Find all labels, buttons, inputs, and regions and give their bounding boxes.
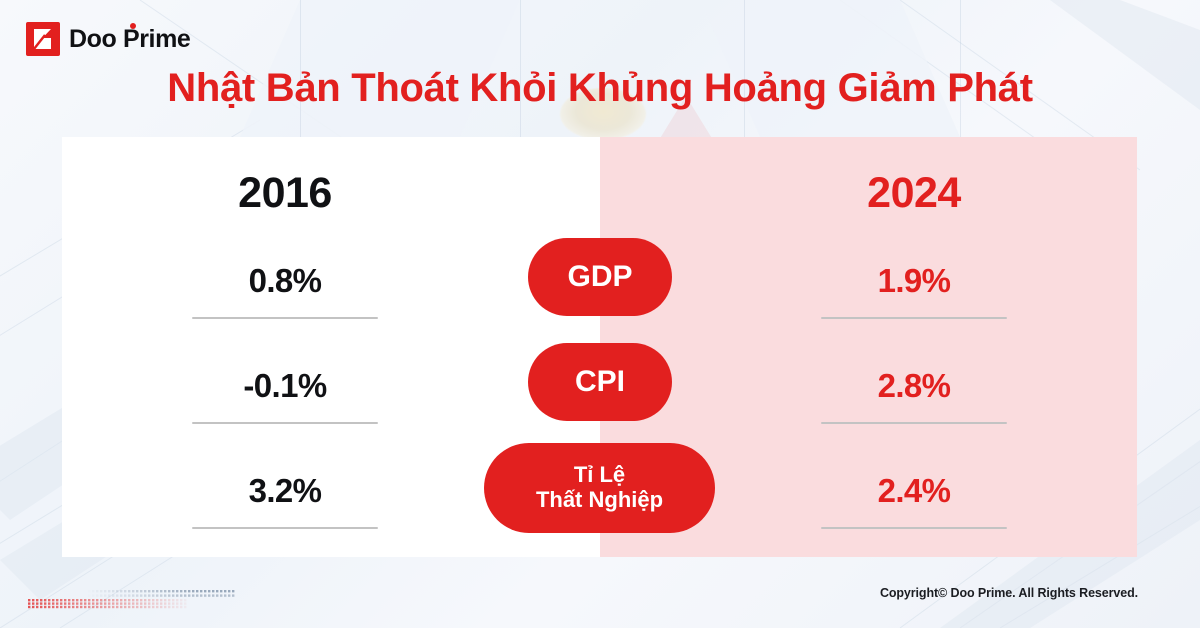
row-divider: [821, 317, 1007, 319]
metric-badge-cpi[interactable]: CPI: [528, 343, 672, 421]
header: Doo Prime Nhật Bản Thoát Khỏi Khủng Hoản…: [0, 0, 1200, 137]
value-2024-unemployment: 2.4%: [878, 455, 951, 527]
value-2016-gdp: 0.8%: [249, 245, 322, 317]
row-divider: [192, 422, 378, 424]
row-divider: [192, 317, 378, 319]
doo-prime-glyph-icon: [34, 29, 52, 49]
value-2024-gdp: 1.9%: [878, 245, 951, 317]
table-row: 2.4%: [691, 455, 1137, 560]
row-divider: [821, 422, 1007, 424]
doo-prime-mark-icon: [26, 22, 60, 56]
table-row: 0.8%: [62, 245, 508, 350]
metric-badge-unemployment-label-line1: Tỉ Lệ: [574, 463, 625, 488]
value-2024-cpi: 2.8%: [878, 350, 951, 422]
metric-badge-cpi-label: CPI: [575, 365, 625, 399]
table-row: 2.8%: [691, 350, 1137, 455]
metric-badge-unemployment[interactable]: Tỉ Lệ Thất Nghiệp: [484, 443, 715, 533]
table-row: -0.1%: [62, 350, 508, 455]
row-divider: [821, 527, 1007, 529]
page-title: Nhật Bản Thoát Khỏi Khủng Hoảng Giảm Phá…: [0, 66, 1200, 111]
value-2016-unemployment: 3.2%: [249, 455, 322, 527]
brand-name: Doo Prime: [69, 25, 190, 54]
value-2016-cpi: -0.1%: [243, 350, 326, 422]
year-header-2016: 2016: [62, 169, 508, 218]
dot-matrix-icon: [28, 586, 240, 610]
metric-badge-gdp[interactable]: GDP: [528, 238, 672, 316]
metric-badge-unemployment-label-line2: Thất Nghiệp: [536, 488, 663, 513]
column-2016: 2016 0.8% -0.1% 3.2%: [62, 137, 508, 557]
metric-badge-gdp-label: GDP: [567, 260, 632, 294]
logo-accent-dot-icon: [130, 23, 136, 29]
copyright-text: Copyright© Doo Prime. All Rights Reserve…: [880, 586, 1138, 600]
year-header-2024: 2024: [691, 169, 1137, 218]
column-2024: 2024 1.9% 2.8% 2.4%: [691, 137, 1137, 557]
table-row: 3.2%: [62, 455, 508, 560]
brand-logo[interactable]: Doo Prime: [26, 22, 190, 56]
row-divider: [192, 527, 378, 529]
table-row: 1.9%: [691, 245, 1137, 350]
